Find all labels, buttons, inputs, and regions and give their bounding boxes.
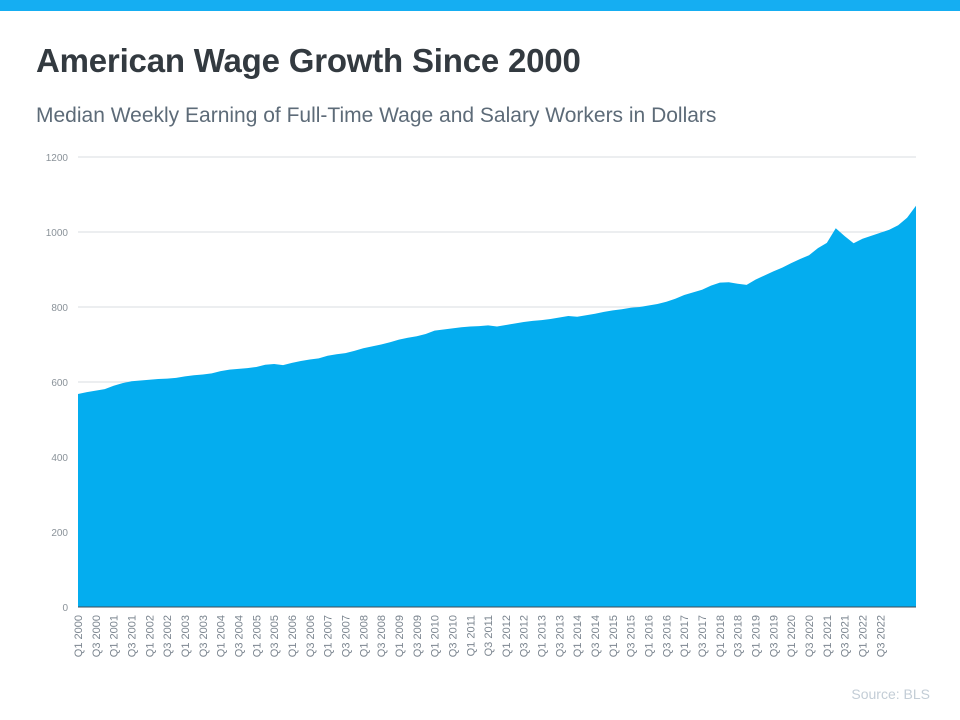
y-axis-tick-label: 0 (62, 603, 68, 614)
x-axis-tick-label: Q3 2000 (91, 615, 103, 657)
x-axis-tick-label: Q3 2003 (198, 615, 210, 657)
x-axis-tick-label: Q1 2012 (501, 615, 513, 657)
x-axis-tick-label: Q1 2007 (323, 615, 335, 657)
x-axis-tick-label: Q3 2009 (412, 615, 424, 657)
source-note: Source: BLS (851, 686, 930, 702)
x-axis-tick-label: Q3 2008 (376, 615, 388, 657)
x-axis-tick-label: Q3 2001 (126, 615, 138, 657)
x-axis-tick-label: Q1 2015 (608, 615, 620, 657)
x-axis-tick-label: Q3 2021 (840, 615, 852, 657)
chart-page: American Wage Growth Since 2000 Median W… (0, 0, 960, 720)
y-axis-tick-label: 800 (51, 303, 68, 314)
x-axis-tick-label: Q1 2004 (216, 615, 228, 657)
x-axis-tick-label: Q1 2021 (822, 615, 834, 657)
y-axis-labels-group: 020040060080010001200 (46, 153, 69, 614)
x-axis-tick-label: Q3 2012 (519, 615, 531, 657)
x-axis-tick-label: Q1 2002 (144, 615, 156, 657)
x-axis-tick-label: Q3 2004 (233, 615, 245, 657)
x-axis-tick-label: Q3 2006 (305, 615, 317, 657)
x-axis-tick-label: Q3 2005 (269, 615, 281, 657)
x-axis-tick-label: Q3 2014 (590, 615, 602, 657)
x-axis-tick-label: Q1 2016 (644, 615, 656, 657)
x-axis-tick-label: Q1 2000 (73, 615, 85, 657)
x-axis-tick-label: Q1 2001 (109, 615, 121, 657)
x-axis-tick-label: Q1 2018 (715, 615, 727, 657)
x-axis-tick-label: Q3 2015 (626, 615, 638, 657)
x-axis-tick-label: Q1 2011 (465, 615, 477, 656)
x-axis-tick-label: Q3 2007 (340, 615, 352, 657)
y-axis-tick-label: 400 (51, 453, 68, 464)
y-axis-tick-label: 200 (51, 528, 68, 539)
x-axis-tick-label: Q3 2022 (875, 615, 887, 657)
x-axis-tick-label: Q3 2020 (804, 615, 816, 657)
x-axis-tick-label: Q3 2016 (661, 615, 673, 657)
x-axis-tick-label: Q1 2009 (394, 615, 406, 657)
x-axis-tick-label: Q1 2017 (679, 615, 691, 657)
x-axis-tick-label: Q1 2008 (358, 615, 370, 657)
x-axis-tick-label: Q3 2013 (554, 615, 566, 657)
x-axis-tick-label: Q1 2005 (251, 615, 263, 657)
x-axis-tick-label: Q3 2011 (483, 615, 495, 656)
y-axis-tick-label: 600 (51, 378, 68, 389)
x-axis-tick-label: Q1 2022 (858, 615, 870, 657)
wage-area-series (78, 206, 916, 607)
x-axis-tick-label: Q3 2018 (733, 615, 745, 657)
x-axis-tick-label: Q1 2014 (572, 615, 584, 657)
x-axis-tick-label: Q1 2010 (430, 615, 442, 657)
area-chart-svg: 020040060080010001200 Q1 2000Q3 2000Q1 2… (0, 0, 960, 720)
x-axis-tick-label: Q3 2010 (447, 615, 459, 657)
x-axis-tick-label: Q1 2020 (786, 615, 798, 657)
chart-plot-area: 020040060080010001200 Q1 2000Q3 2000Q1 2… (0, 0, 960, 720)
x-axis-tick-label: Q3 2019 (768, 615, 780, 657)
x-axis-tick-label: Q3 2017 (697, 615, 709, 657)
x-axis-tick-label: Q1 2003 (180, 615, 192, 657)
x-axis-tick-label: Q3 2002 (162, 615, 174, 657)
x-axis-labels-group: Q1 2000Q3 2000Q1 2001Q3 2001Q1 2002Q3 20… (73, 615, 887, 657)
x-axis-tick-label: Q1 2013 (537, 615, 549, 657)
y-axis-tick-label: 1000 (46, 228, 69, 239)
x-axis-tick-label: Q1 2019 (751, 615, 763, 657)
y-axis-tick-label: 1200 (46, 153, 69, 164)
x-axis-tick-label: Q1 2006 (287, 615, 299, 657)
